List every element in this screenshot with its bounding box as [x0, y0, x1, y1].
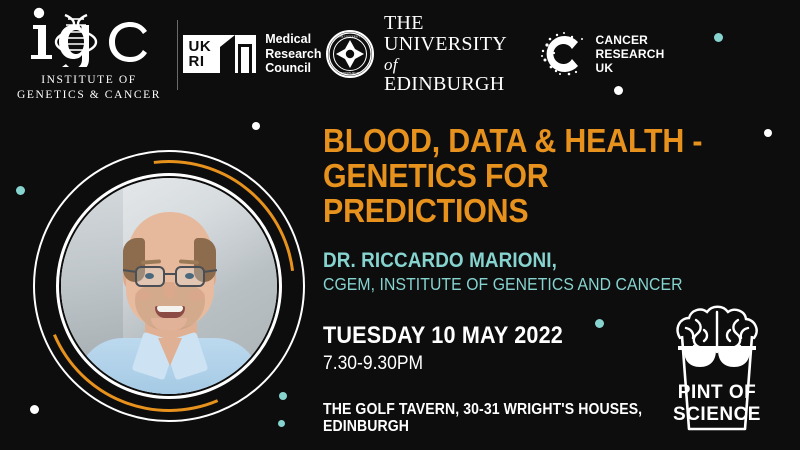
edinburgh-logo: THE UNIVERSITY EDINBURGH THE UNIVERSITY …	[326, 0, 516, 108]
igc-letters-icon	[25, 5, 153, 67]
edinburgh-line1: THE UNIVERSITY	[384, 13, 516, 54]
cruk-c-icon	[538, 29, 588, 79]
portrait-photo	[61, 178, 277, 394]
ukri-building-icon	[216, 35, 256, 73]
speaker-name: DR. RICCARDO MARIONI,	[323, 249, 701, 273]
edinburgh-line2: EDINBURGH	[384, 73, 504, 95]
pos-line1: PINT OF	[678, 382, 756, 403]
edinburgh-crest-icon: THE UNIVERSITY EDINBURGH	[326, 30, 374, 78]
igc-logo: INSTITUTE OF GENETICS & CANCER	[0, 0, 178, 108]
cruk-wrap: CANCER RESEARCH UK	[538, 29, 665, 79]
ukri-mrc-wrap: UK RI Medical Research Council	[183, 32, 322, 76]
cruk-text: CANCER RESEARCH UK	[596, 33, 665, 75]
cruk-logo: CANCER RESEARCH UK	[516, 0, 686, 108]
partner-logo-bar: INSTITUTE OF GENETICS & CANCER UK RI	[0, 0, 800, 108]
mrc-text: Medical Research Council	[265, 32, 321, 76]
edinburgh-line2-wrap: of EDINBURGH	[384, 54, 516, 95]
speaker-affiliation: CGEM, INSTITUTE OF GENETICS AND CANCER	[323, 274, 701, 294]
pos-line2: SCIENCE	[673, 404, 761, 425]
event-title: BLOOD, DATA & HEALTH - GENETICS FOR PRED…	[323, 124, 709, 229]
dot-teal-left	[16, 186, 25, 195]
dot-white-mid-top	[252, 122, 260, 130]
pint-of-science-logo: PINT OF SCIENCE	[656, 286, 778, 436]
igc-mark: INSTITUTE OF GENETICS & CANCER	[17, 5, 161, 102]
event-poster: INSTITUTE OF GENETICS & CANCER UK RI	[0, 0, 800, 450]
svg-text:THE UNIVERSITY: THE UNIVERSITY	[338, 35, 363, 39]
svg-text:EDINBURGH: EDINBURGH	[341, 71, 359, 75]
ukri-letters: UK RI	[183, 35, 217, 73]
igc-subtitle: INSTITUTE OF GENETICS & CANCER	[17, 73, 161, 102]
event-time: 7.30-9.30PM	[323, 354, 709, 375]
dot-white-far-right	[764, 129, 772, 137]
ukri-line2: RI	[189, 54, 212, 69]
speaker-portrait	[33, 150, 305, 422]
ukri-box: UK RI	[183, 35, 257, 73]
event-venue: THE GOLF TAVERN, 30-31 WRIGHT'S HOUSES, …	[323, 401, 693, 436]
event-date: TUESDAY 10 MAY 2022	[323, 323, 701, 349]
edinburgh-of: of	[384, 55, 398, 74]
edinburgh-wordmark: THE UNIVERSITY of EDINBURGH	[384, 13, 516, 95]
ukri-line1: UK	[189, 39, 212, 54]
logo-divider	[177, 20, 178, 90]
edinburgh-wrap: THE UNIVERSITY EDINBURGH THE UNIVERSITY …	[326, 13, 516, 95]
ukri-mrc-logo: UK RI Medical Research Council	[178, 0, 326, 108]
